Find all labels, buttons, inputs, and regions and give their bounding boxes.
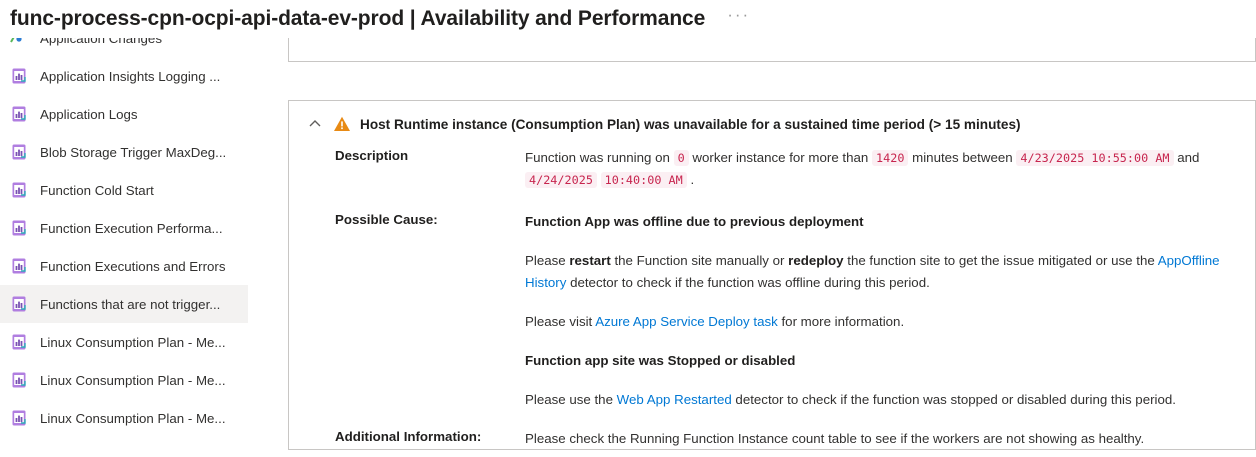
additional-information-text: Please check the Running Function Instan… (525, 428, 1255, 450)
possible-cause-label: Possible Cause: (335, 211, 525, 411)
chevron-up-icon[interactable] (307, 116, 323, 132)
cause-1-p2-text-a: Please visit (525, 314, 595, 329)
description-text-2: worker instance for more than (692, 150, 868, 165)
description-row: Description Function was running on 0 wo… (289, 147, 1255, 191)
start-time-value: 4/23/2025 10:55:00 AM (1016, 150, 1173, 166)
sidebar-item-label: Linux Consumption Plan - Me... (40, 335, 226, 350)
sidebar-item-label: Function Cold Start (40, 183, 154, 198)
spacer (525, 294, 1255, 311)
description-text-3: minutes between (912, 150, 1013, 165)
cause-1-p2-text-b: for more information. (778, 314, 904, 329)
detector-report-icon (10, 143, 28, 161)
description-label: Description (335, 147, 525, 191)
description-text-4: and (1177, 150, 1199, 165)
detector-report-icon (10, 67, 28, 85)
cause-1-p1-text-e: the function site to get the issue mitig… (844, 253, 1158, 268)
worker-count-value: 0 (674, 150, 689, 166)
additional-information-body: Please check the Running Function Instan… (525, 428, 1255, 450)
sidebar-item-linux-consumption-plan-3[interactable]: Linux Consumption Plan - Me... (0, 399, 248, 437)
possible-cause-row: Possible Cause: Function App was offline… (289, 211, 1255, 411)
sidebar-item-function-execution-performance[interactable]: Function Execution Performa... (0, 209, 248, 247)
spacer (525, 372, 1255, 389)
cause-1-paragraph-2: Please visit Azure App Service Deploy ta… (525, 311, 1255, 333)
previous-card-partial (288, 38, 1256, 62)
cause-2-p1-text-a: Please use the (525, 392, 617, 407)
cause-2-paragraph-1: Please use the Web App Restarted detecto… (525, 389, 1255, 411)
sidebar-item-label: Functions that are not trigger... (40, 297, 220, 312)
detector-report-icon (10, 105, 28, 123)
insight-card: Host Runtime instance (Consumption Plan)… (288, 100, 1256, 450)
main-content: Host Runtime instance (Consumption Plan)… (278, 38, 1256, 457)
sidebar-item-linux-consumption-plan-2[interactable]: Linux Consumption Plan - Me... (0, 361, 248, 399)
sidebar-item-application-changes[interactable]: Application Changes (0, 38, 248, 57)
description-body: Function was running on 0 worker instanc… (525, 147, 1255, 191)
web-app-restarted-link[interactable]: Web App Restarted (617, 392, 732, 407)
cause-1-p1-text-c: the Function site manually or (611, 253, 788, 268)
sidebar-item-functions-that-are-not-triggered[interactable]: Functions that are not trigger... (0, 285, 248, 323)
detector-report-icon (10, 257, 28, 275)
sidebar-item-label: Function Executions and Errors (40, 259, 226, 274)
description-text-5: . (690, 172, 694, 187)
description-text-1: Function was running on (525, 150, 670, 165)
sidebar-item-label: Linux Consumption Plan - Me... (40, 411, 226, 426)
restart-keyword: restart (569, 253, 610, 268)
cause-1-p1-text-a: Please (525, 253, 569, 268)
minutes-value: 1420 (872, 150, 908, 166)
redeploy-keyword: redeploy (788, 253, 843, 268)
detector-report-icon (10, 219, 28, 237)
sidebar-item-label: Function Execution Performa... (40, 221, 223, 236)
cause-2-heading: Function app site was Stopped or disable… (525, 350, 1255, 372)
spacer (525, 333, 1255, 350)
sidebar-item-label: Application Changes (40, 38, 162, 46)
end-time-value: 10:40:00 AM (601, 172, 687, 188)
sidebar-item-linux-consumption-plan-1[interactable]: Linux Consumption Plan - Me... (0, 323, 248, 361)
page-title: func-process-cpn-ocpi-api-data-ev-prod |… (10, 7, 705, 31)
detector-report-icon (10, 181, 28, 199)
azure-app-service-deploy-task-link[interactable]: Azure App Service Deploy task (595, 314, 778, 329)
insight-title: Host Runtime instance (Consumption Plan)… (360, 117, 1021, 132)
sidebar-item-function-executions-and-errors[interactable]: Function Executions and Errors (0, 247, 248, 285)
additional-information-label: Additional Information: (335, 428, 525, 450)
cause-1-heading: Function App was offline due to previous… (525, 211, 1255, 233)
sidebar-item-function-cold-start[interactable]: Function Cold Start (0, 171, 248, 209)
detector-report-icon (10, 371, 28, 389)
cause-2-p1-text-b: detector to check if the function was st… (732, 392, 1176, 407)
sidebar-item-label: Linux Consumption Plan - Me... (40, 373, 226, 388)
sidebar-item-application-insights-logging[interactable]: Application Insights Logging ... (0, 57, 248, 95)
detector-report-icon (10, 333, 28, 351)
cause-1-p1-text-f: detector to check if the function was of… (566, 275, 929, 290)
warning-triangle-icon (333, 115, 351, 133)
spacer (525, 233, 1255, 250)
sidebar-item-label: Application Logs (40, 107, 138, 122)
page-header: func-process-cpn-ocpi-api-data-ev-prod |… (0, 0, 1256, 38)
cause-1-paragraph-1: Please restart the Function site manuall… (525, 250, 1255, 294)
additional-information-row: Additional Information: Please check the… (289, 428, 1255, 450)
possible-cause-body: Function App was offline due to previous… (525, 211, 1255, 411)
sidebar-item-label: Blob Storage Trigger MaxDeg... (40, 145, 226, 160)
more-options-button[interactable]: ··· (727, 11, 750, 27)
sidebar-nav: Application Changes Application Insights… (0, 38, 248, 457)
detector-report-icon (10, 295, 28, 313)
detector-report-icon (10, 409, 28, 427)
end-date-value: 4/24/2025 (525, 172, 597, 188)
sidebar-item-application-logs[interactable]: Application Logs (0, 95, 248, 133)
insight-header[interactable]: Host Runtime instance (Consumption Plan)… (289, 101, 1255, 133)
sidebar-item-blob-storage-trigger[interactable]: Blob Storage Trigger MaxDeg... (0, 133, 248, 171)
line-chart-icon (10, 38, 28, 47)
sidebar-item-label: Application Insights Logging ... (40, 69, 220, 84)
